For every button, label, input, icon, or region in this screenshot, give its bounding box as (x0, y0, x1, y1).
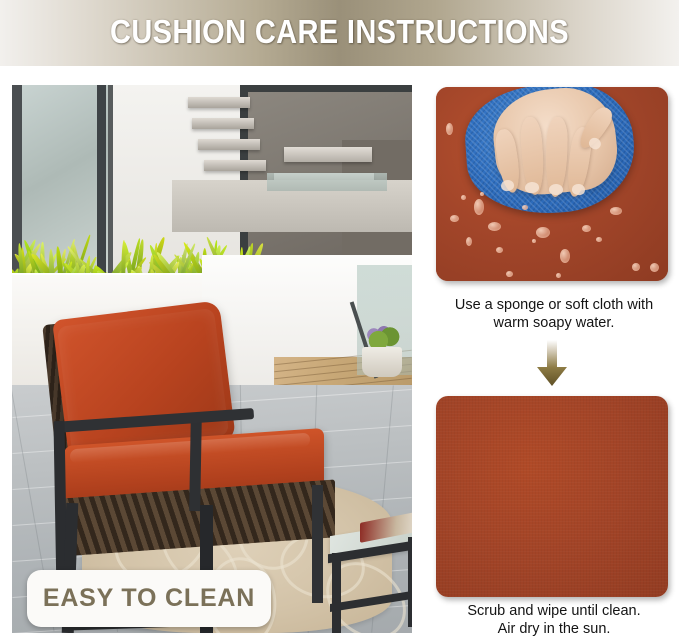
water-droplet (556, 273, 561, 278)
stair-tread (192, 118, 254, 129)
step2-caption-line1: Scrub and wipe until clean. (467, 603, 640, 619)
fingernail (549, 184, 563, 195)
side-table-leg-left (332, 553, 341, 633)
stair-tread (284, 147, 372, 162)
easy-to-clean-label: EASY TO CLEAN (43, 584, 255, 613)
water-droplet (461, 195, 466, 200)
step2-caption-line2: Air dry in the sun. (498, 621, 611, 637)
water-droplet (450, 215, 459, 222)
lifestyle-photo (12, 85, 412, 633)
water-droplet (632, 263, 640, 271)
step2-photo (436, 396, 668, 597)
chair-back-post (189, 415, 202, 511)
stair-tread (204, 160, 266, 171)
step1-caption-line2: warm soapy water. (494, 315, 615, 331)
window-frame-top (240, 85, 412, 92)
water-droplet (536, 227, 550, 238)
potted-plant-pot (362, 347, 402, 377)
water-droplet (650, 263, 659, 272)
water-droplet (506, 271, 513, 277)
water-droplet (532, 239, 536, 243)
water-droplet (560, 249, 570, 263)
water-droplet (610, 207, 622, 215)
water-droplet (522, 205, 528, 210)
stair-tread (188, 97, 250, 108)
back-cushion-seam (57, 308, 229, 454)
side-table-leg-right (408, 537, 412, 627)
step1-caption-line1: Use a sponge or soft cloth with (455, 297, 653, 313)
water-droplet (582, 225, 591, 232)
water-droplet (488, 222, 501, 231)
arrow-down-icon (535, 340, 569, 386)
stair-tread (198, 139, 260, 150)
page-title: CUSHION CARE INSTRUCTIONS (41, 13, 639, 51)
water-droplet (596, 237, 602, 242)
chair-leg-rear-right (312, 485, 323, 603)
water-droplet (480, 192, 484, 196)
water-droplet (446, 123, 453, 135)
water-droplet (474, 199, 484, 215)
step2-caption: Scrub and wipe until clean. Air dry in t… (430, 602, 678, 638)
water-droplet (496, 247, 503, 253)
water-droplet (466, 237, 472, 246)
easy-to-clean-badge: EASY TO CLEAN (27, 570, 271, 627)
glass-railing-upper (267, 173, 387, 191)
step1-caption: Use a sponge or soft cloth with warm soa… (430, 296, 678, 332)
step1-photo (436, 87, 668, 281)
